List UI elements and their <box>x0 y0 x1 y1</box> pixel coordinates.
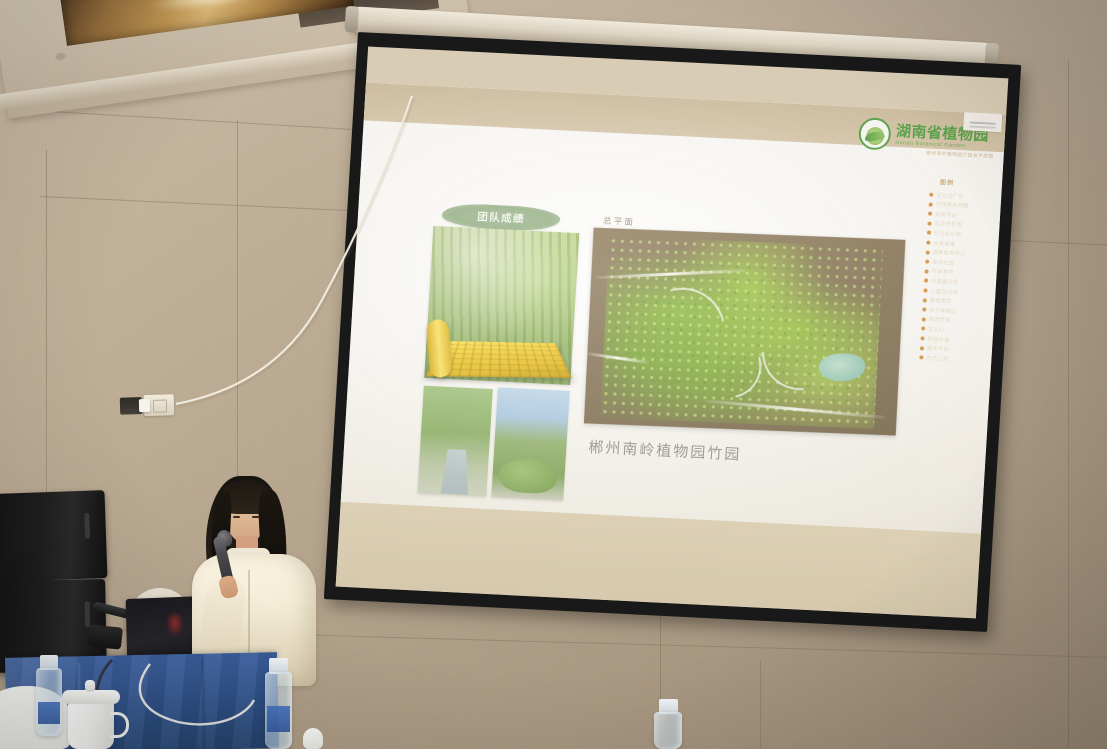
plan-legend: 图例 主入口广场 竹种质资源圃 观景平台 生态停车场 竹文化长廊 水景叠瀑 游客… <box>919 177 988 364</box>
projection-screen[interactable]: 湖南省植物园 Hunan Botanical Garden 团队成绩 总平面 <box>324 32 1021 632</box>
legend-marker-icon <box>920 336 924 340</box>
legend-item-label: 水景叠瀑 <box>933 239 955 247</box>
bottle-label <box>267 706 290 732</box>
legend-marker-icon <box>923 288 927 292</box>
scroll-roll-end <box>426 319 453 379</box>
legend-item: 次入口 <box>921 325 945 333</box>
legend-item-label: 滨水栈道 <box>932 259 954 267</box>
compass-north-icon <box>963 90 1003 132</box>
legend-item-label: 竹种质资源圃 <box>935 201 968 210</box>
legend-item: 竹种质资源圃 <box>928 201 968 210</box>
legend-marker-icon <box>928 212 932 216</box>
legend-marker-icon <box>926 241 930 245</box>
legend-item-label: 林下休憩区 <box>929 306 957 314</box>
section-label-text: 团队成绩 <box>477 209 525 226</box>
leaf-circle-logo-icon <box>858 117 892 151</box>
wall-seam <box>1068 60 1069 749</box>
legend-item-label: 管理用房 <box>930 297 952 305</box>
legend-item: 亲水平台 <box>920 344 949 352</box>
screen-surface: 湖南省植物园 Hunan Botanical Garden 团队成绩 总平面 <box>336 47 1009 619</box>
laptop-logo-icon <box>167 613 183 635</box>
legend-marker-icon <box>929 193 933 197</box>
tea-cup-lid <box>62 690 120 704</box>
legend-marker-icon <box>921 327 925 331</box>
legend-item: 观赏竹园 <box>922 316 951 324</box>
roller-end-cap <box>345 6 359 33</box>
tea-cup-knob <box>85 680 95 692</box>
legend-item-label: 生态停车场 <box>934 220 962 228</box>
legend-item: 主入口广场 <box>929 191 964 200</box>
microphone-base <box>87 624 123 649</box>
small-white-object <box>303 728 323 749</box>
wall-seam <box>760 660 761 749</box>
legend-item-label: 竹文化长廊 <box>934 230 962 238</box>
legend-marker-icon <box>925 269 929 273</box>
plan-label: 总平面 <box>603 214 636 228</box>
legend-item-label: 科普展示区 <box>931 278 959 286</box>
legend-item-label: 竹艺工坊 <box>926 354 948 362</box>
tablecloth-fold <box>201 658 206 749</box>
legend-marker-icon <box>924 279 928 283</box>
legend-item: 科普展示区 <box>924 277 959 286</box>
legend-item-label: 次入口 <box>928 326 945 334</box>
projected-slide: 湖南省植物园 Hunan Botanical Garden 团队成绩 总平面 <box>341 82 1007 533</box>
legend-marker-icon <box>922 317 926 321</box>
legend-item: 管理用房 <box>923 297 952 305</box>
speaker-case-top <box>0 490 108 582</box>
legend-item-label: 竹林氧吧 <box>931 268 953 276</box>
legend-item: 滨水栈道 <box>925 258 954 266</box>
legend-heading: 图例 <box>940 177 955 187</box>
power-plug <box>139 399 150 412</box>
legend-marker-icon <box>922 308 926 312</box>
legend-item: 环园步道 <box>920 335 949 343</box>
legend-marker-icon <box>923 298 927 302</box>
legend-item: 儿童活动场 <box>923 287 958 296</box>
aerial-master-plan <box>584 228 906 436</box>
speaker-handle <box>85 601 90 627</box>
legend-marker-icon <box>926 250 930 254</box>
legend-item: 竹林氧吧 <box>924 268 953 276</box>
legend-item: 林下休憩区 <box>922 306 957 315</box>
legend-item: 水景叠瀑 <box>926 239 955 247</box>
legend-item-label: 主入口广场 <box>936 192 964 200</box>
legend-marker-icon <box>925 260 929 264</box>
legend-item-label: 观景平台 <box>935 211 957 219</box>
tea-cup[interactable] <box>68 700 114 749</box>
legend-item: 游客服务中心 <box>926 249 966 258</box>
legend-item: 生态停车场 <box>927 220 962 229</box>
legend-marker-icon <box>927 231 931 235</box>
bottle-label <box>38 702 60 724</box>
legend-item-label: 游客服务中心 <box>933 249 966 258</box>
slide-content: 湖南省植物园 Hunan Botanical Garden 团队成绩 总平面 <box>341 82 1007 533</box>
legend-item-label: 儿童活动场 <box>930 287 958 295</box>
presentation-room-photo: 湖南省植物园 Hunan Botanical Garden 团队成绩 总平面 <box>0 0 1107 749</box>
legend-item: 竹艺工坊 <box>919 354 948 362</box>
water-bottle[interactable] <box>654 712 682 749</box>
speaker-handle <box>84 513 90 539</box>
legend-item-label: 观赏竹园 <box>929 316 951 324</box>
wall-socket[interactable] <box>120 394 175 417</box>
legend-marker-icon <box>927 221 931 225</box>
legend-item-label: 环园步道 <box>927 335 949 343</box>
legend-item-label: 亲水平台 <box>927 345 949 353</box>
legend-marker-icon <box>919 355 923 359</box>
legend-item: 竹文化长廊 <box>927 230 962 239</box>
legend-marker-icon <box>929 202 933 206</box>
eye <box>233 516 240 518</box>
legend-marker-icon <box>920 346 924 350</box>
legend-item: 观景平台 <box>928 210 957 218</box>
